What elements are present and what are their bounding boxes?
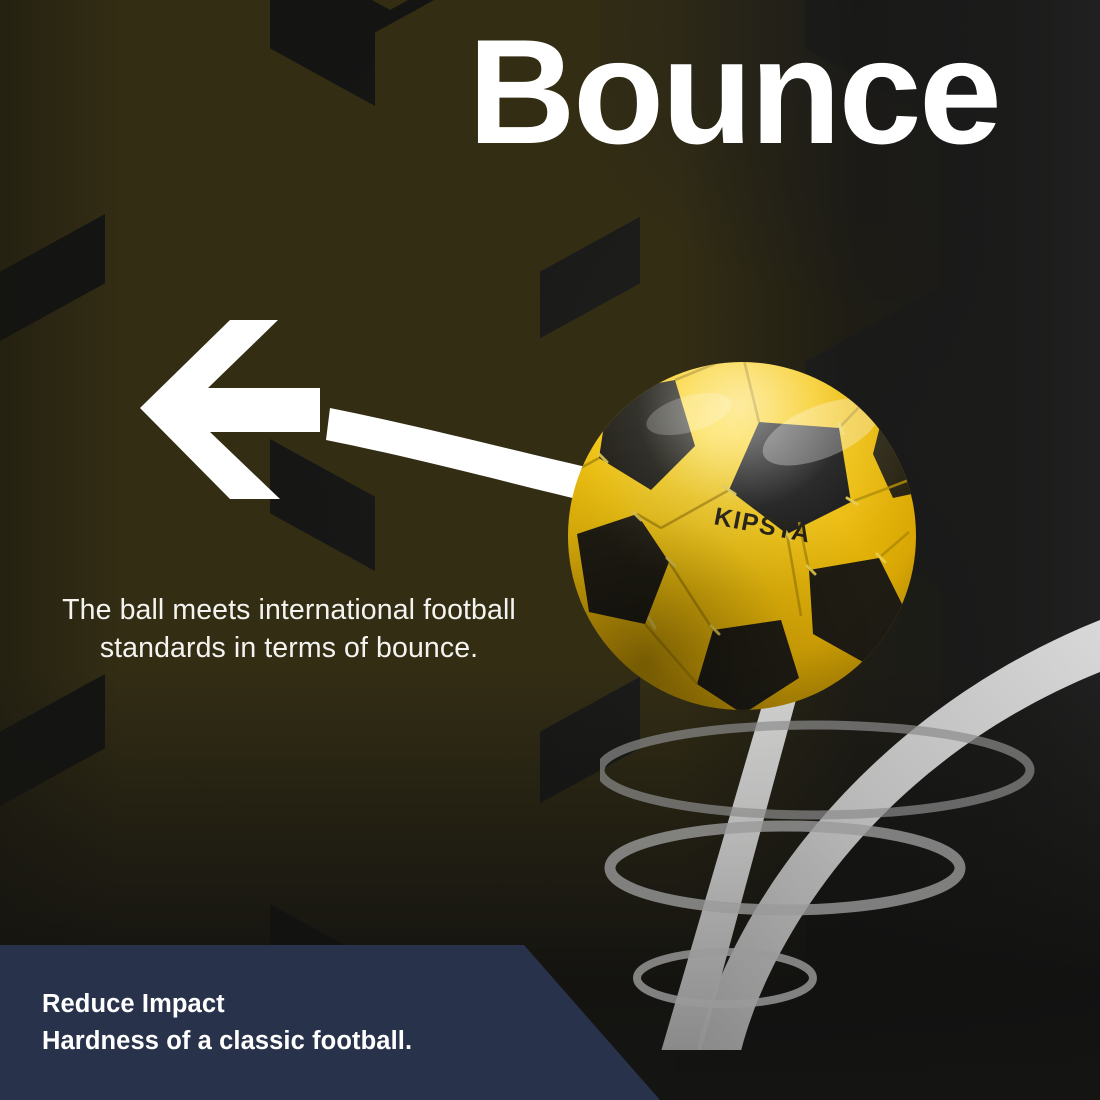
banner-headline: Reduce Impact bbox=[42, 986, 560, 1022]
curved-arrow-left-icon bbox=[130, 280, 630, 530]
description-text: The ball meets international football st… bbox=[28, 592, 550, 668]
football-image: KIPSTA bbox=[563, 362, 921, 712]
bottom-banner-text-group: Reduce Impact Hardness of a classic foot… bbox=[0, 945, 560, 1100]
promo-image-canvas: KIPSTA Bounce The ball meets internation… bbox=[0, 0, 1100, 1100]
banner-subline: Hardness of a classic football. bbox=[42, 1023, 560, 1059]
background-fade-left bbox=[0, 0, 120, 1100]
page-title: Bounce bbox=[468, 14, 999, 170]
